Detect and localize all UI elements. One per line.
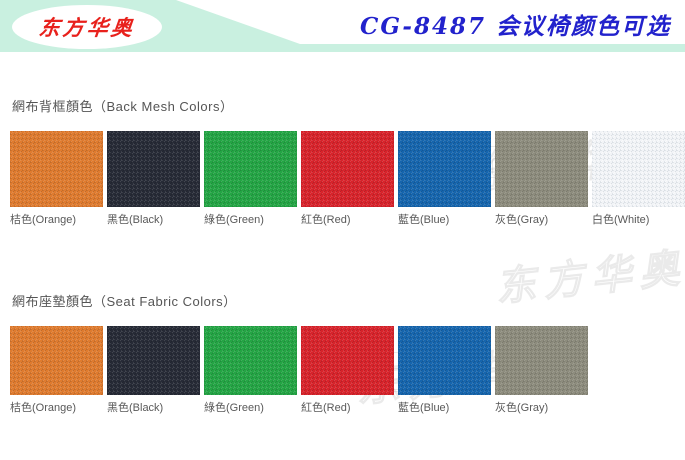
color-swatch-cell[interactable]: 藍色(Blue) bbox=[398, 131, 495, 207]
color-swatch[interactable] bbox=[107, 131, 200, 207]
color-swatch-cell[interactable]: 綠色(Green) bbox=[204, 131, 301, 207]
color-swatch-label: 紅色(Red) bbox=[301, 399, 398, 415]
swatch-row-back-mesh: 桔色(Orange)黑色(Black)綠色(Green)紅色(Red)藍色(Bl… bbox=[0, 131, 685, 207]
color-swatch-cell[interactable]: 灰色(Gray) bbox=[495, 131, 592, 207]
watermark-text: 东方华奥 bbox=[492, 235, 685, 313]
brand-logo-text: 东方华奥 bbox=[37, 12, 136, 42]
color-swatch[interactable] bbox=[398, 326, 491, 395]
color-swatch-label: 灰色(Gray) bbox=[495, 211, 592, 227]
swatch-row-seat-fabric: 桔色(Orange)黑色(Black)綠色(Green)紅色(Red)藍色(Bl… bbox=[0, 326, 685, 395]
color-swatch-label: 白色(White) bbox=[592, 211, 685, 227]
color-swatch[interactable] bbox=[10, 131, 103, 207]
color-swatch-label: 藍色(Blue) bbox=[398, 399, 495, 415]
page-title: CG-8487 会议椅颜色可选 bbox=[360, 7, 671, 41]
color-swatch[interactable] bbox=[107, 326, 200, 395]
color-swatch-label: 綠色(Green) bbox=[204, 211, 301, 227]
color-swatch-cell[interactable]: 黑色(Black) bbox=[107, 326, 204, 395]
color-swatch-label: 桔色(Orange) bbox=[10, 399, 107, 415]
color-swatch[interactable] bbox=[204, 326, 297, 395]
color-swatch[interactable] bbox=[204, 131, 297, 207]
color-swatch[interactable] bbox=[495, 131, 588, 207]
color-swatch[interactable] bbox=[10, 326, 103, 395]
color-swatch-label: 桔色(Orange) bbox=[10, 211, 107, 227]
color-swatch-cell[interactable]: 灰色(Gray) bbox=[495, 326, 592, 395]
color-swatch-cell[interactable]: 桔色(Orange) bbox=[10, 131, 107, 207]
color-swatch-label: 紅色(Red) bbox=[301, 211, 398, 227]
color-swatch-label: 灰色(Gray) bbox=[495, 399, 592, 415]
section-heading-seat-fabric: 網布座墊顏色（Seat Fabric Colors） bbox=[12, 291, 237, 310]
color-swatch-label: 藍色(Blue) bbox=[398, 211, 495, 227]
color-swatch[interactable] bbox=[398, 131, 491, 207]
page-header: 东方华奥 CG-8487 会议椅颜色可选 bbox=[0, 0, 685, 52]
color-swatch[interactable] bbox=[495, 326, 588, 395]
color-swatch-cell[interactable]: 藍色(Blue) bbox=[398, 326, 495, 395]
color-swatch-label: 黑色(Black) bbox=[107, 399, 204, 415]
color-swatch-cell[interactable]: 黑色(Black) bbox=[107, 131, 204, 207]
color-swatch[interactable] bbox=[301, 131, 394, 207]
color-swatch-label: 綠色(Green) bbox=[204, 399, 301, 415]
color-swatch-cell[interactable]: 桔色(Orange) bbox=[10, 326, 107, 395]
color-swatch-cell[interactable]: 白色(White) bbox=[592, 131, 685, 207]
color-swatch[interactable] bbox=[592, 131, 685, 207]
section-heading-back-mesh: 網布背框顏色（Back Mesh Colors） bbox=[12, 96, 233, 115]
color-swatch-cell[interactable]: 紅色(Red) bbox=[301, 326, 398, 395]
color-swatch-cell[interactable]: 紅色(Red) bbox=[301, 131, 398, 207]
color-swatch-label: 黑色(Black) bbox=[107, 211, 204, 227]
brand-logo: 东方华奥 bbox=[12, 5, 162, 49]
color-swatch[interactable] bbox=[301, 326, 394, 395]
color-swatch-cell[interactable]: 綠色(Green) bbox=[204, 326, 301, 395]
